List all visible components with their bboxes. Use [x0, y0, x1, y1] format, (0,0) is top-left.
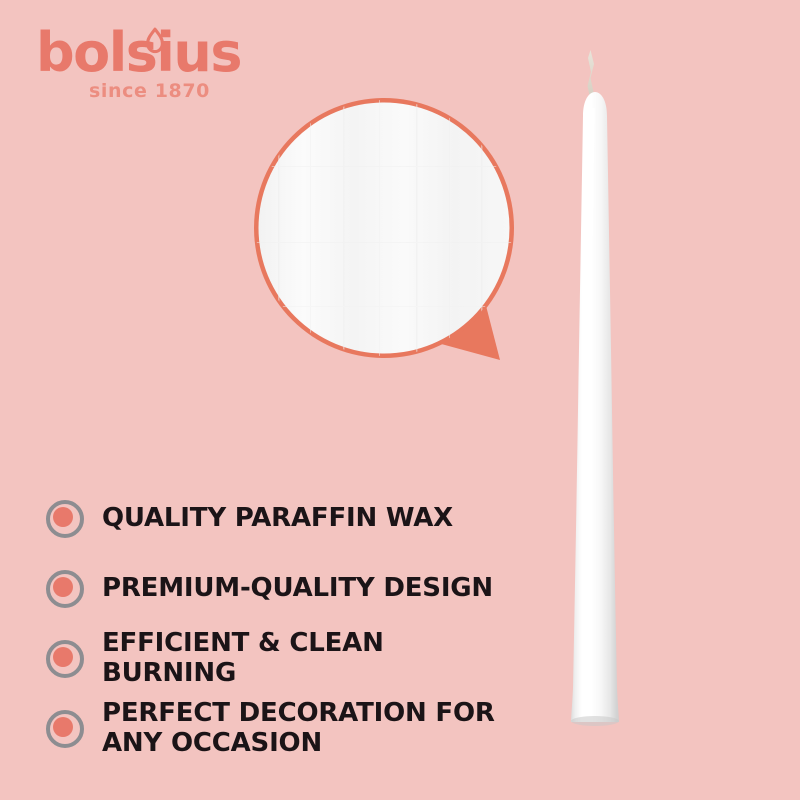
feature-label: PREMIUM-QUALITY DESIGN [102, 574, 493, 604]
bullet-dot [53, 507, 73, 527]
taper-candle [545, 48, 675, 748]
feature-label: EFFICIENT & CLEAN BURNING [102, 629, 514, 688]
brand-tagline: since 1870 [89, 82, 210, 101]
bullet-target-icon [44, 708, 86, 750]
feature-label: QUALITY PARAFFIN WAX [102, 504, 453, 534]
feature-item-efficient-clean-burning: EFFICIENT & CLEAN BURNING [44, 628, 514, 690]
bullet-dot [53, 717, 73, 737]
feature-item-perfect-decoration: PERFECT DECORATION FOR ANY OCCASION [44, 698, 514, 760]
callout-surface [259, 103, 510, 354]
feature-label: PERFECT DECORATION FOR ANY OCCASION [102, 699, 495, 758]
flame-icon [144, 27, 166, 55]
candle-body [571, 92, 619, 722]
feature-item-quality-paraffin-wax: QUALITY PARAFFIN WAX [44, 488, 514, 550]
bullet-target-icon [44, 498, 86, 540]
product-feature-graphic: bolsius since 1870 [0, 0, 800, 800]
wax-surface-magnifier [248, 92, 524, 368]
brand-logo: bolsius since 1870 [36, 26, 276, 108]
candle-base-shadow [571, 716, 619, 726]
bullet-dot [53, 577, 73, 597]
bullet-target-icon [44, 638, 86, 680]
feature-item-premium-quality-design: PREMIUM-QUALITY DESIGN [44, 558, 514, 620]
brand-wordmark: bolsius [36, 26, 241, 80]
feature-list: QUALITY PARAFFIN WAX PREMIUM-QUALITY DES… [44, 488, 514, 768]
bullet-dot [53, 647, 73, 667]
bullet-target-icon [44, 568, 86, 610]
